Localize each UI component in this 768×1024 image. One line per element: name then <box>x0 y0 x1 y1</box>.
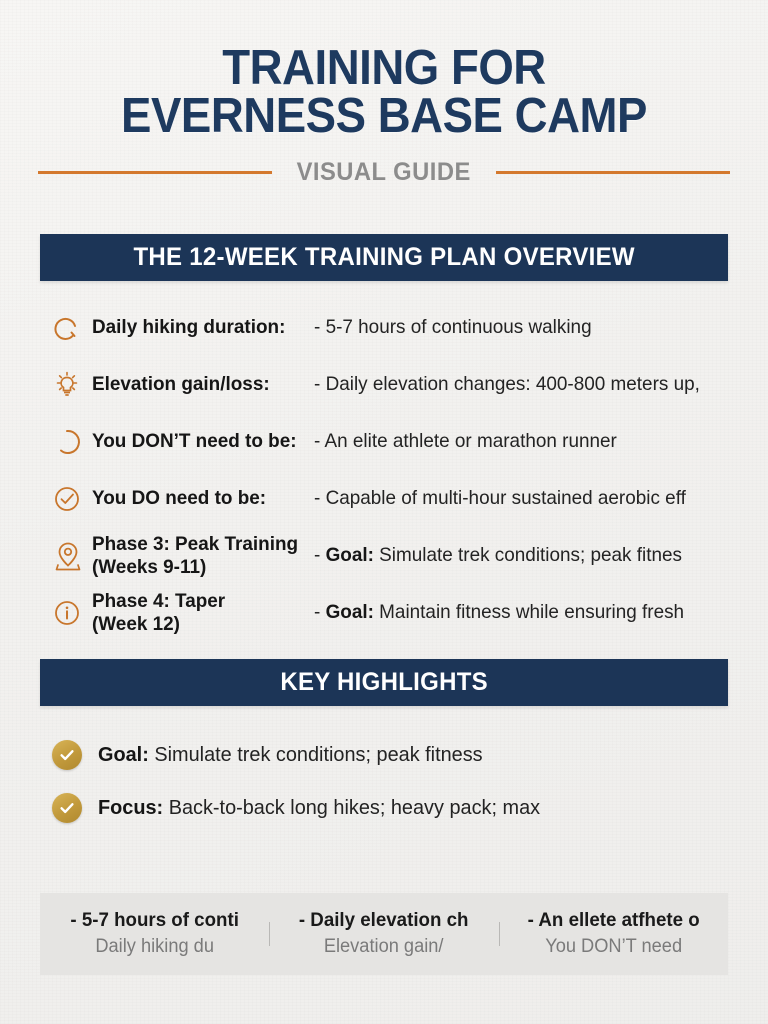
info-icon <box>40 598 92 628</box>
infographic-page: TRAINING FOR EVERNESS BASE CAMP VISUAL G… <box>0 0 768 1024</box>
overview-row: You DON’T need to be: - An elite athlete… <box>40 413 728 470</box>
value-prefix: - <box>314 544 326 566</box>
row-label: Elevation gain/loss: <box>92 373 307 396</box>
highlights-list: Goal: Simulate trek conditions; peak fit… <box>0 706 768 834</box>
value-bold: Goal: <box>326 601 374 623</box>
section-bar-overview: THE 12-WEEK TRAINING PLAN OVERVIEW <box>40 234 728 281</box>
row-value: - Goal: Maintain fitness while ensuring … <box>314 601 716 624</box>
stat-item: - 5-7 hours of conti Daily hiking du <box>40 908 269 959</box>
stat-label: Elevation gain/ <box>280 935 489 960</box>
check-badge-icon <box>52 740 82 770</box>
value-text: An elite athlete or marathon runner <box>325 430 617 452</box>
highlight-text: Focus: Back-to-back long hikes; heavy pa… <box>98 796 540 820</box>
value-text: Capable of multi-hour sustained aerobic … <box>326 487 686 509</box>
clock-icon <box>40 313 92 343</box>
subtitle-row: VISUAL GUIDE <box>0 158 768 187</box>
row-label: Phase 3: Peak Training (Weeks 9-11) <box>92 533 307 578</box>
stat-value: - An ellete atfhete o <box>509 908 718 933</box>
section-bar-highlights: KEY HIGHLIGHTS <box>40 659 728 706</box>
stat-value: - Daily elevation ch <box>280 908 489 933</box>
section-title-highlights: KEY HIGHLIGHTS <box>280 668 488 697</box>
highlight-text: Goal: Simulate trek conditions; peak fit… <box>98 743 483 767</box>
page-title: TRAINING FOR EVERNESS BASE CAMP <box>27 44 741 140</box>
check-circle-icon <box>40 484 92 514</box>
row-label: You DON’T need to be: <box>92 430 307 453</box>
circle-outline-icon <box>40 427 92 457</box>
stat-label: You DON’T need <box>509 935 718 960</box>
overview-row: Daily hiking duration: - 5-7 hours of co… <box>40 299 728 356</box>
map-pin-icon <box>40 540 92 572</box>
value-prefix: - <box>314 487 326 509</box>
row-value: - Daily elevation changes: 400-800 meter… <box>314 373 716 396</box>
lightbulb-icon <box>40 370 92 400</box>
row-value: - Capable of multi-hour sustained aerobi… <box>314 487 716 510</box>
value-bold: Goal: <box>326 544 374 566</box>
subtitle: VISUAL GUIDE <box>297 158 471 187</box>
overview-row: Phase 3: Peak Training (Weeks 9-11) - Go… <box>40 527 728 584</box>
value-text: Maintain fitness while ensuring fresh <box>374 601 684 623</box>
rule-left <box>38 171 272 174</box>
rule-right <box>496 171 730 174</box>
footer-stats: - 5-7 hours of conti Daily hiking du - D… <box>40 893 728 975</box>
value-text: 5-7 hours of continuous walking <box>326 316 592 338</box>
highlight-bold: Goal: <box>98 743 149 766</box>
row-value: - 5-7 hours of continuous walking <box>314 316 716 339</box>
value-text: Simulate trek conditions; peak fitnes <box>374 544 682 566</box>
value-text: Daily elevation changes: 400-800 meters … <box>326 373 700 395</box>
title-line-1: TRAINING FOR <box>27 44 741 92</box>
value-prefix: - <box>314 601 326 623</box>
overview-row: Elevation gain/loss: - Daily elevation c… <box>40 356 728 413</box>
highlight-rest: Back-to-back long hikes; heavy pack; max <box>163 796 540 819</box>
value-prefix: - <box>314 373 326 395</box>
stat-label: Daily hiking du <box>50 935 259 960</box>
stat-value: - 5-7 hours of conti <box>50 908 259 933</box>
overview-row: You DO need to be: - Capable of multi-ho… <box>40 470 728 527</box>
highlight-rest: Simulate trek conditions; peak fitness <box>149 743 483 766</box>
row-value: - Goal: Simulate trek conditions; peak f… <box>314 544 716 567</box>
section-title-overview: THE 12-WEEK TRAINING PLAN OVERVIEW <box>133 243 634 272</box>
check-badge-icon <box>52 793 82 823</box>
highlight-item: Focus: Back-to-back long hikes; heavy pa… <box>52 781 728 834</box>
overview-row: Phase 4: Taper (Week 12) - Goal: Maintai… <box>40 584 728 641</box>
row-value: - An elite athlete or marathon runner <box>314 430 716 453</box>
overview-rows: Daily hiking duration: - 5-7 hours of co… <box>0 281 768 641</box>
stat-item: - Daily elevation ch Elevation gain/ <box>269 908 498 959</box>
highlight-bold: Focus: <box>98 796 163 819</box>
header: TRAINING FOR EVERNESS BASE CAMP VISUAL G… <box>0 0 768 187</box>
value-prefix: - <box>314 316 326 338</box>
row-label: You DO need to be: <box>92 487 307 510</box>
row-label: Phase 4: Taper (Week 12) <box>92 590 307 635</box>
title-line-2: EVERNESS BASE CAMP <box>27 92 741 140</box>
value-prefix: - <box>314 430 325 452</box>
highlight-item: Goal: Simulate trek conditions; peak fit… <box>52 728 728 781</box>
row-label: Daily hiking duration: <box>92 316 307 339</box>
stat-item: - An ellete atfhete o You DON’T need <box>499 908 728 959</box>
